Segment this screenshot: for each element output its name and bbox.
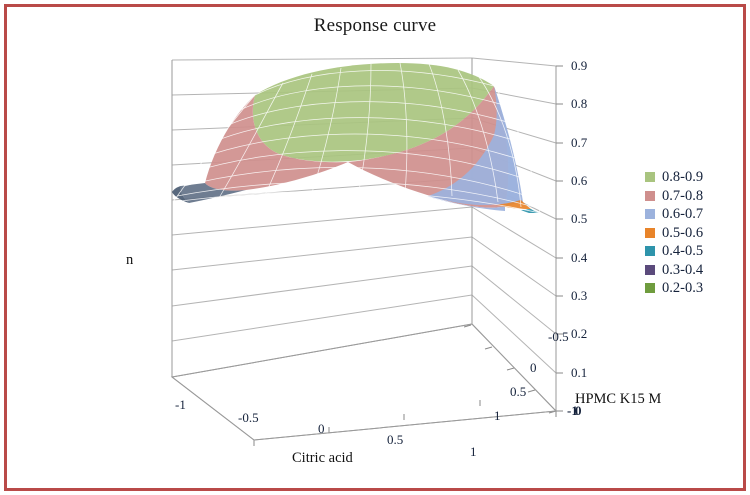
legend-swatch-icon <box>645 209 655 219</box>
screenshot-root: Response curve <box>0 0 750 495</box>
legend-item[interactable]: 0.3-0.4 <box>645 261 740 280</box>
category-axis-tick-3: 0.5 <box>387 432 403 448</box>
legend-item[interactable]: 0.6-0.7 <box>645 205 740 224</box>
chart-area: Response curve <box>0 0 750 495</box>
category-axis-title: Citric acid <box>292 450 353 467</box>
legend-item-label: 0.7-0.8 <box>662 189 703 204</box>
value-axis-ticks <box>556 66 563 411</box>
legend-item[interactable]: 0.8-0.9 <box>645 168 740 187</box>
legend-swatch-icon <box>645 191 655 201</box>
legend-swatch-icon <box>645 172 655 182</box>
value-axis-tick-7: 0.2 <box>571 326 587 342</box>
series-axis-title: HPMC K15 M <box>575 391 661 408</box>
value-axis-tick-3: 0.6 <box>571 173 587 189</box>
series-axis-tick-4: 1 <box>494 408 501 424</box>
legend-swatch-icon <box>645 283 655 293</box>
series-axis-tick-0: -1 <box>567 403 578 419</box>
legend-item[interactable]: 0.5-0.6 <box>645 224 740 243</box>
legend-swatch-icon <box>645 265 655 275</box>
category-axis-tick-0: -1 <box>175 397 186 413</box>
category-axis-tick-4: 1 <box>470 444 477 460</box>
category-axis-tick-2: 0 <box>318 421 325 437</box>
legend-item[interactable]: 0.2-0.3 <box>645 279 740 298</box>
legend-swatch-icon <box>645 246 655 256</box>
series-axis-tick-3: 0.5 <box>510 384 526 400</box>
series-axis-tick-2: 0 <box>530 360 537 376</box>
value-axis-tick-8: 0.1 <box>571 365 587 381</box>
legend-item-label: 0.6-0.7 <box>662 207 703 222</box>
series-axis-tick-1: -0.5 <box>548 329 569 345</box>
legend-item-label: 0.5-0.6 <box>662 226 703 241</box>
value-axis-tick-0: 0.9 <box>571 58 587 74</box>
legend-item[interactable]: 0.7-0.8 <box>645 187 740 206</box>
value-axis-tick-1: 0.8 <box>571 96 587 112</box>
legend-item[interactable]: 0.4-0.5 <box>645 242 740 261</box>
legend-item-label: 0.3-0.4 <box>662 263 703 278</box>
value-axis-tick-2: 0.7 <box>571 135 587 151</box>
chart-legend: 0.8-0.9 0.7-0.8 0.6-0.7 0.5-0.6 0.4-0.5 … <box>645 168 740 298</box>
value-axis-tick-4: 0.5 <box>571 211 587 227</box>
legend-item-label: 0.4-0.5 <box>662 244 703 259</box>
legend-item-label: 0.8-0.9 <box>662 170 703 185</box>
legend-swatch-icon <box>645 228 655 238</box>
value-axis-title: n <box>126 252 133 269</box>
legend-item-label: 0.2-0.3 <box>662 281 703 296</box>
value-axis-tick-5: 0.4 <box>571 250 587 266</box>
surface-plot <box>0 0 750 495</box>
category-axis-tick-1: -0.5 <box>238 410 259 426</box>
value-axis-tick-6: 0.3 <box>571 288 587 304</box>
